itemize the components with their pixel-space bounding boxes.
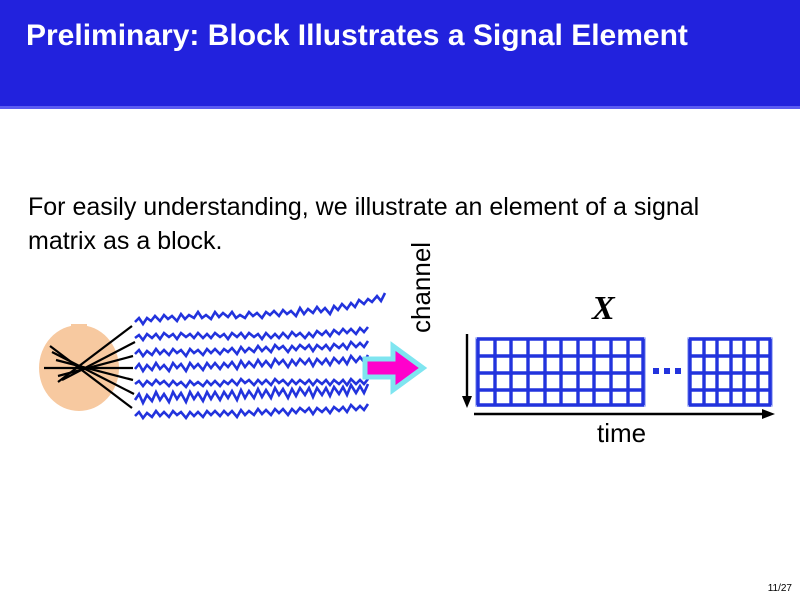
- channel-axis-label: channel: [406, 203, 436, 333]
- transform-arrow-icon: [365, 346, 423, 390]
- signal-matrix-block-right: [688, 338, 772, 406]
- title-banner-underline: [0, 106, 800, 109]
- signal-matrix-block-left: [476, 338, 645, 406]
- eeg-traces: [135, 293, 385, 418]
- slide-body-text: For easily understanding, we illustrate …: [28, 190, 758, 258]
- page-number: 11/27: [768, 583, 792, 594]
- channel-axis-arrow: [462, 334, 472, 408]
- matrix-ellipsis: [653, 368, 681, 374]
- time-axis-label: time: [597, 418, 646, 448]
- eeg-to-signal-matrix-diagram: [0, 280, 800, 460]
- matrix-label-x: X: [592, 292, 615, 326]
- page-title: Preliminary: Block Illustrates a Signal …: [26, 16, 766, 56]
